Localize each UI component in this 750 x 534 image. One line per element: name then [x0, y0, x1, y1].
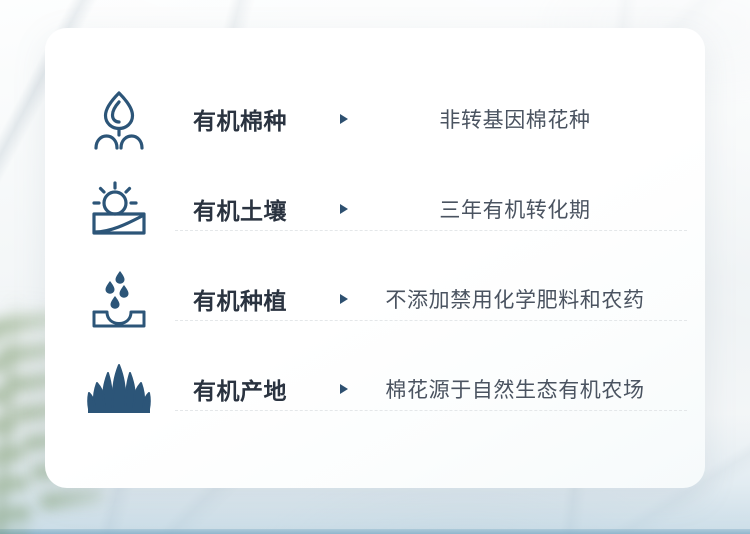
feature-title: 有机产地	[193, 372, 313, 406]
feature-title: 有机种植	[193, 282, 313, 316]
grass-cluster-icon	[45, 363, 193, 415]
feature-description: 棉花源于自然生态有机农场	[367, 374, 705, 404]
feature-card: 有机棉种 非转基因棉花种	[45, 28, 705, 488]
feature-row-organic-planting[interactable]: 有机种植 不添加禁用化学肥料和农药	[45, 254, 705, 344]
feature-title: 有机棉种	[193, 102, 313, 136]
feature-row-organic-soil[interactable]: 有机土壤 三年有机转化期	[45, 164, 705, 254]
triangle-right-icon	[313, 114, 367, 124]
feature-row-organic-seed[interactable]: 有机棉种 非转基因棉花种	[45, 74, 705, 164]
feature-description: 不添加禁用化学肥料和农药	[367, 284, 705, 314]
triangle-right-icon	[313, 384, 367, 394]
feature-row-list: 有机棉种 非转基因棉花种	[45, 74, 705, 434]
fern-leaflet	[0, 505, 31, 531]
water-drops-trough-icon	[45, 268, 193, 330]
seed-sprout-icon	[45, 88, 193, 150]
organic-cotton-feature-panel: 有机棉种 非转基因棉花种	[0, 0, 750, 534]
triangle-right-icon	[313, 294, 367, 304]
sun-over-soil-icon	[45, 179, 193, 239]
fern-leaflet	[39, 486, 104, 510]
feature-title: 有机土壤	[193, 192, 313, 226]
feature-row-organic-origin[interactable]: 有机产地 棉花源于自然生态有机农场	[45, 344, 705, 434]
feature-description: 三年有机转化期	[367, 194, 705, 224]
triangle-right-icon	[313, 204, 367, 214]
feature-description: 非转基因棉花种	[367, 104, 705, 134]
